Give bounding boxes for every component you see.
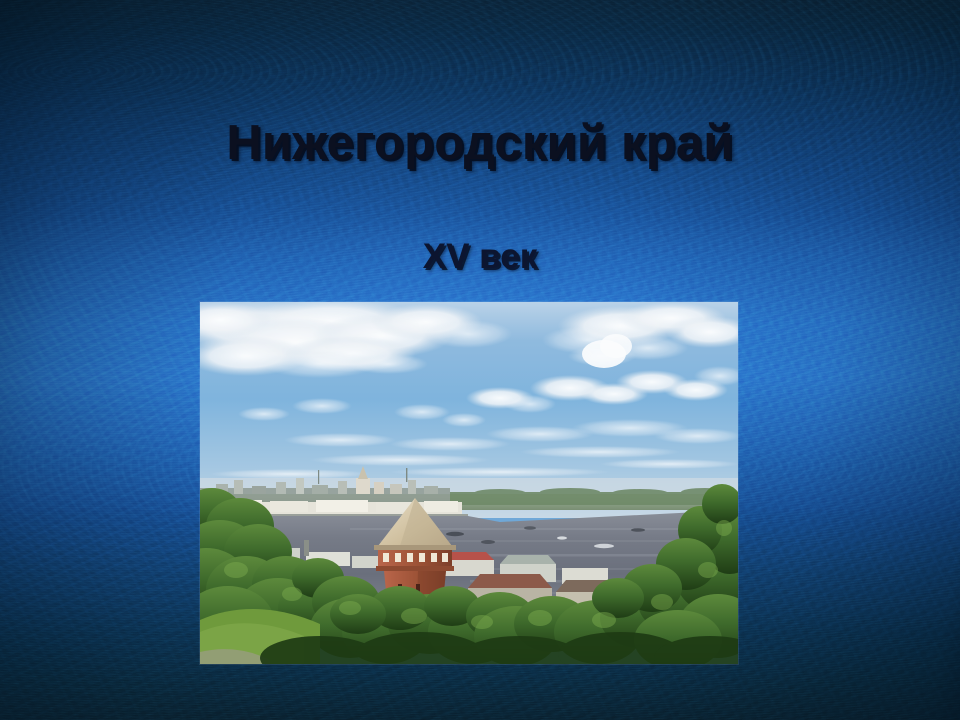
subtitle-block: XV век [0,238,960,277]
presentation-slide: Нижегородский край XV век [0,0,960,720]
slide-photo: Небо с кучевыми облаками Река Дальний бе… [200,302,738,664]
photo-far-treeline [450,488,738,505]
title-block: Нижегородский край [0,118,960,170]
photo-illustration: Небо с кучевыми облаками Река Дальний бе… [200,302,738,664]
slide-subtitle: XV век [0,238,960,277]
slide-title: Нижегородский край [0,118,960,170]
